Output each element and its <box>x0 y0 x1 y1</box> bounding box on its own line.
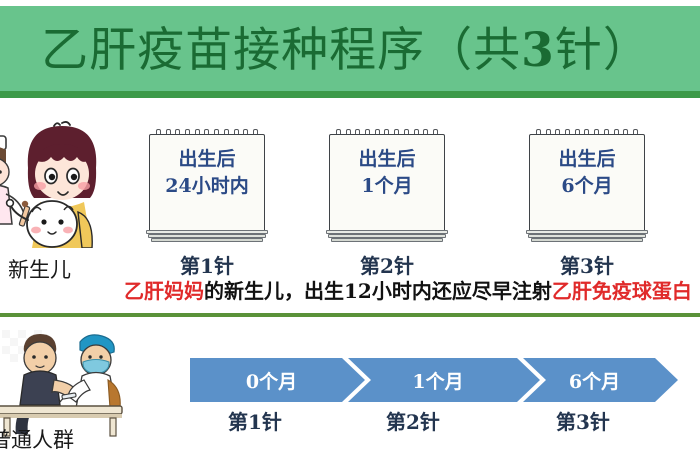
calendar-line-1: 出生后 <box>529 146 645 173</box>
calendar-page-stack <box>146 230 268 243</box>
calendar-card-dose-1: 出生后 24小时内 第1针 <box>149 128 265 256</box>
timeline-month-1: 0个月 <box>246 367 297 394</box>
hbig-warning-note: 乙肝妈妈的新生儿，出生12小时内还应尽早注射乙肝免疫球蛋白 <box>124 278 700 304</box>
timeline-dose-label-2: 第2针 <box>386 406 440 435</box>
general-population-caption: 普通人群 <box>0 424 74 454</box>
dose-label-3: 第3针 <box>519 250 655 279</box>
warning-red-prefix: 乙肝妈妈 <box>124 279 204 303</box>
warning-black-middle: 的新生儿，出生12小时内还应尽早注射 <box>204 279 552 303</box>
calendar-line-2: 24小时内 <box>149 173 265 200</box>
timeline-month-3: 6个月 <box>569 367 620 394</box>
calendar-line-2: 1个月 <box>329 173 445 200</box>
timeline-arrow-step-1: 0个月 <box>190 358 365 402</box>
timeline-month-2: 1个月 <box>412 367 463 394</box>
baby-figure <box>7 200 77 247</box>
timeline-dose-labels: 第1针 第2针 第3针 <box>190 406 690 436</box>
mother-holding-baby-with-nurse-illustration <box>0 120 126 248</box>
calendar-card-dose-2: 出生后 1个月 第2针 <box>329 128 445 256</box>
calendar-text-dose-2: 出生后 1个月 <box>329 146 445 200</box>
patient-figure <box>16 334 76 434</box>
calendar-page-stack <box>326 230 448 243</box>
calendar-line-1: 出生后 <box>149 146 265 173</box>
hepatitis-b-vaccination-schedule-poster: 乙肝疫苗接种程序（共3针） <box>0 0 700 470</box>
header-banner: 乙肝疫苗接种程序（共3针） <box>0 6 700 98</box>
page-title-tail: 针） <box>555 23 651 78</box>
calendar-text-dose-1: 出生后 24小时内 <box>149 146 265 200</box>
calendar-line-1: 出生后 <box>329 146 445 173</box>
page-title: 乙肝疫苗接种程序（共3针） <box>0 22 700 80</box>
page-title-needle-count: 3 <box>521 23 555 78</box>
newborn-caption: 新生儿 <box>8 254 71 284</box>
timeline-arrow-step-3: 6个月 <box>523 358 678 402</box>
warning-red-suffix: 乙肝免疫球蛋白 <box>552 279 692 303</box>
page-title-main: 乙肝疫苗接种程序（共 <box>41 23 521 78</box>
doctor-figure <box>60 335 120 408</box>
dose-label-1: 第1针 <box>139 250 275 279</box>
calendar-page-stack <box>526 230 648 243</box>
header-underline <box>0 91 700 98</box>
general-population-schedule-section: 普通人群 0个月 1个月 6个月 第1针 第2针 第3针 <box>0 326 700 470</box>
timeline-dose-label-3: 第3针 <box>556 406 610 435</box>
vaccination-timeline-arrows: 0个月 1个月 6个月 <box>190 358 678 402</box>
calendar-card-dose-3: 出生后 6个月 第3针 <box>529 128 645 256</box>
timeline-arrow-step-2: 1个月 <box>348 358 540 402</box>
calendar-line-2: 6个月 <box>529 173 645 200</box>
section-divider <box>0 313 700 317</box>
timeline-dose-label-1: 第1针 <box>228 406 282 435</box>
dose-label-2: 第2针 <box>319 250 455 279</box>
calendar-text-dose-3: 出生后 6个月 <box>529 146 645 200</box>
doctor-vaccinating-patient-illustration <box>0 328 134 428</box>
